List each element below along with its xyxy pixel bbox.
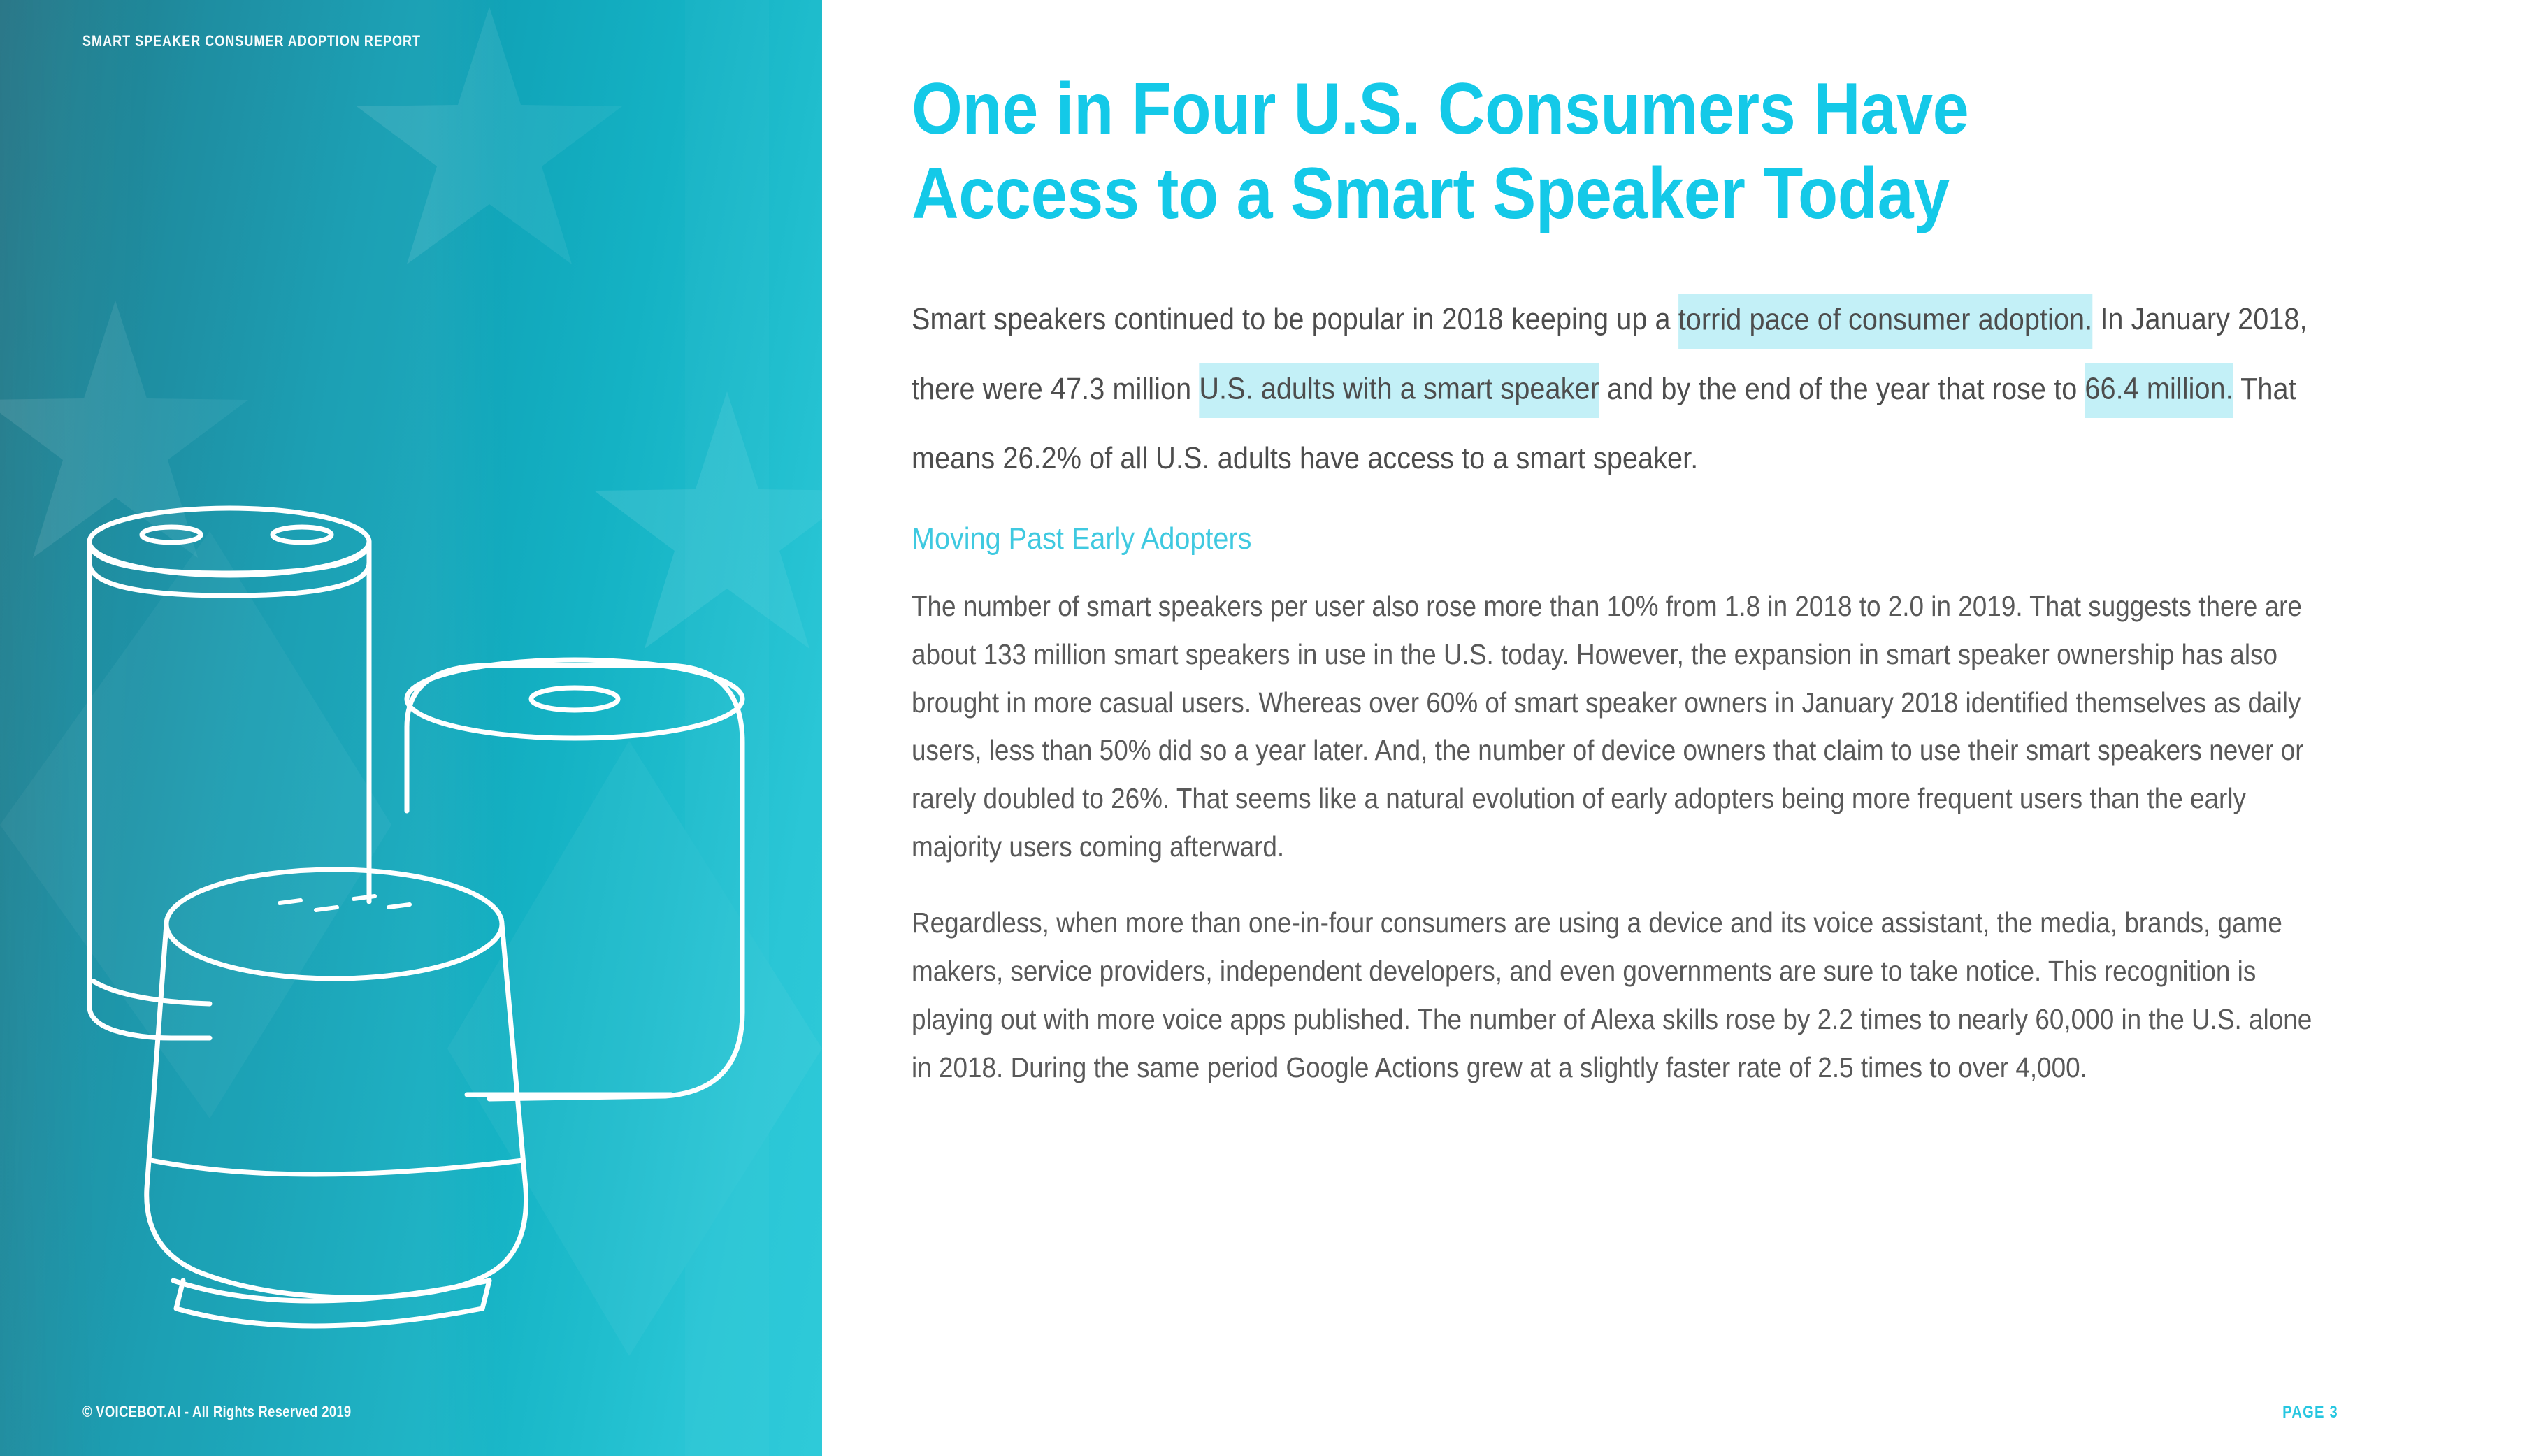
echo-cylinder-device [89, 508, 369, 1038]
lede-paragraph: Smart speakers continued to be popular i… [912, 284, 2337, 493]
report-page: SMART SPEAKER CONSUMER ADOPTION REPORT ©… [0, 0, 2548, 1456]
left-cover-panel: SMART SPEAKER CONSUMER ADOPTION REPORT ©… [0, 0, 822, 1456]
article-content: One in Four U.S. Consumers Have Access t… [822, 0, 2548, 1456]
lede-highlight-5: 66.4 million. [2085, 363, 2233, 418]
lede-text-4: and by the end of the year that rose to [1599, 372, 2085, 406]
google-home-device [147, 870, 526, 1326]
copyright-notice: © VOICEBOT.AI - All Rights Reserved 2019 [82, 1403, 351, 1421]
smart-speakers-illustration [0, 0, 822, 1456]
report-eyebrow-label: SMART SPEAKER CONSUMER ADOPTION REPORT [82, 32, 421, 50]
body-paragraph-1: The number of smart speakers per user al… [912, 582, 2337, 871]
lede-highlight-1: torrid pace of consumer adoption. [1678, 294, 2093, 349]
page-title: One in Four U.S. Consumers Have Access t… [912, 67, 2196, 236]
body-paragraph-2: Regardless, when more than one-in-four c… [912, 899, 2337, 1092]
lede-highlight-3: U.S. adults with a smart speaker [1199, 363, 1599, 418]
homepod-device [407, 660, 742, 1099]
page-number-label: PAGE 3 [2282, 1403, 2338, 1422]
section-subheading: Moving Past Early Adopters [912, 519, 2196, 558]
lede-text-0: Smart speakers continued to be popular i… [912, 302, 1678, 336]
